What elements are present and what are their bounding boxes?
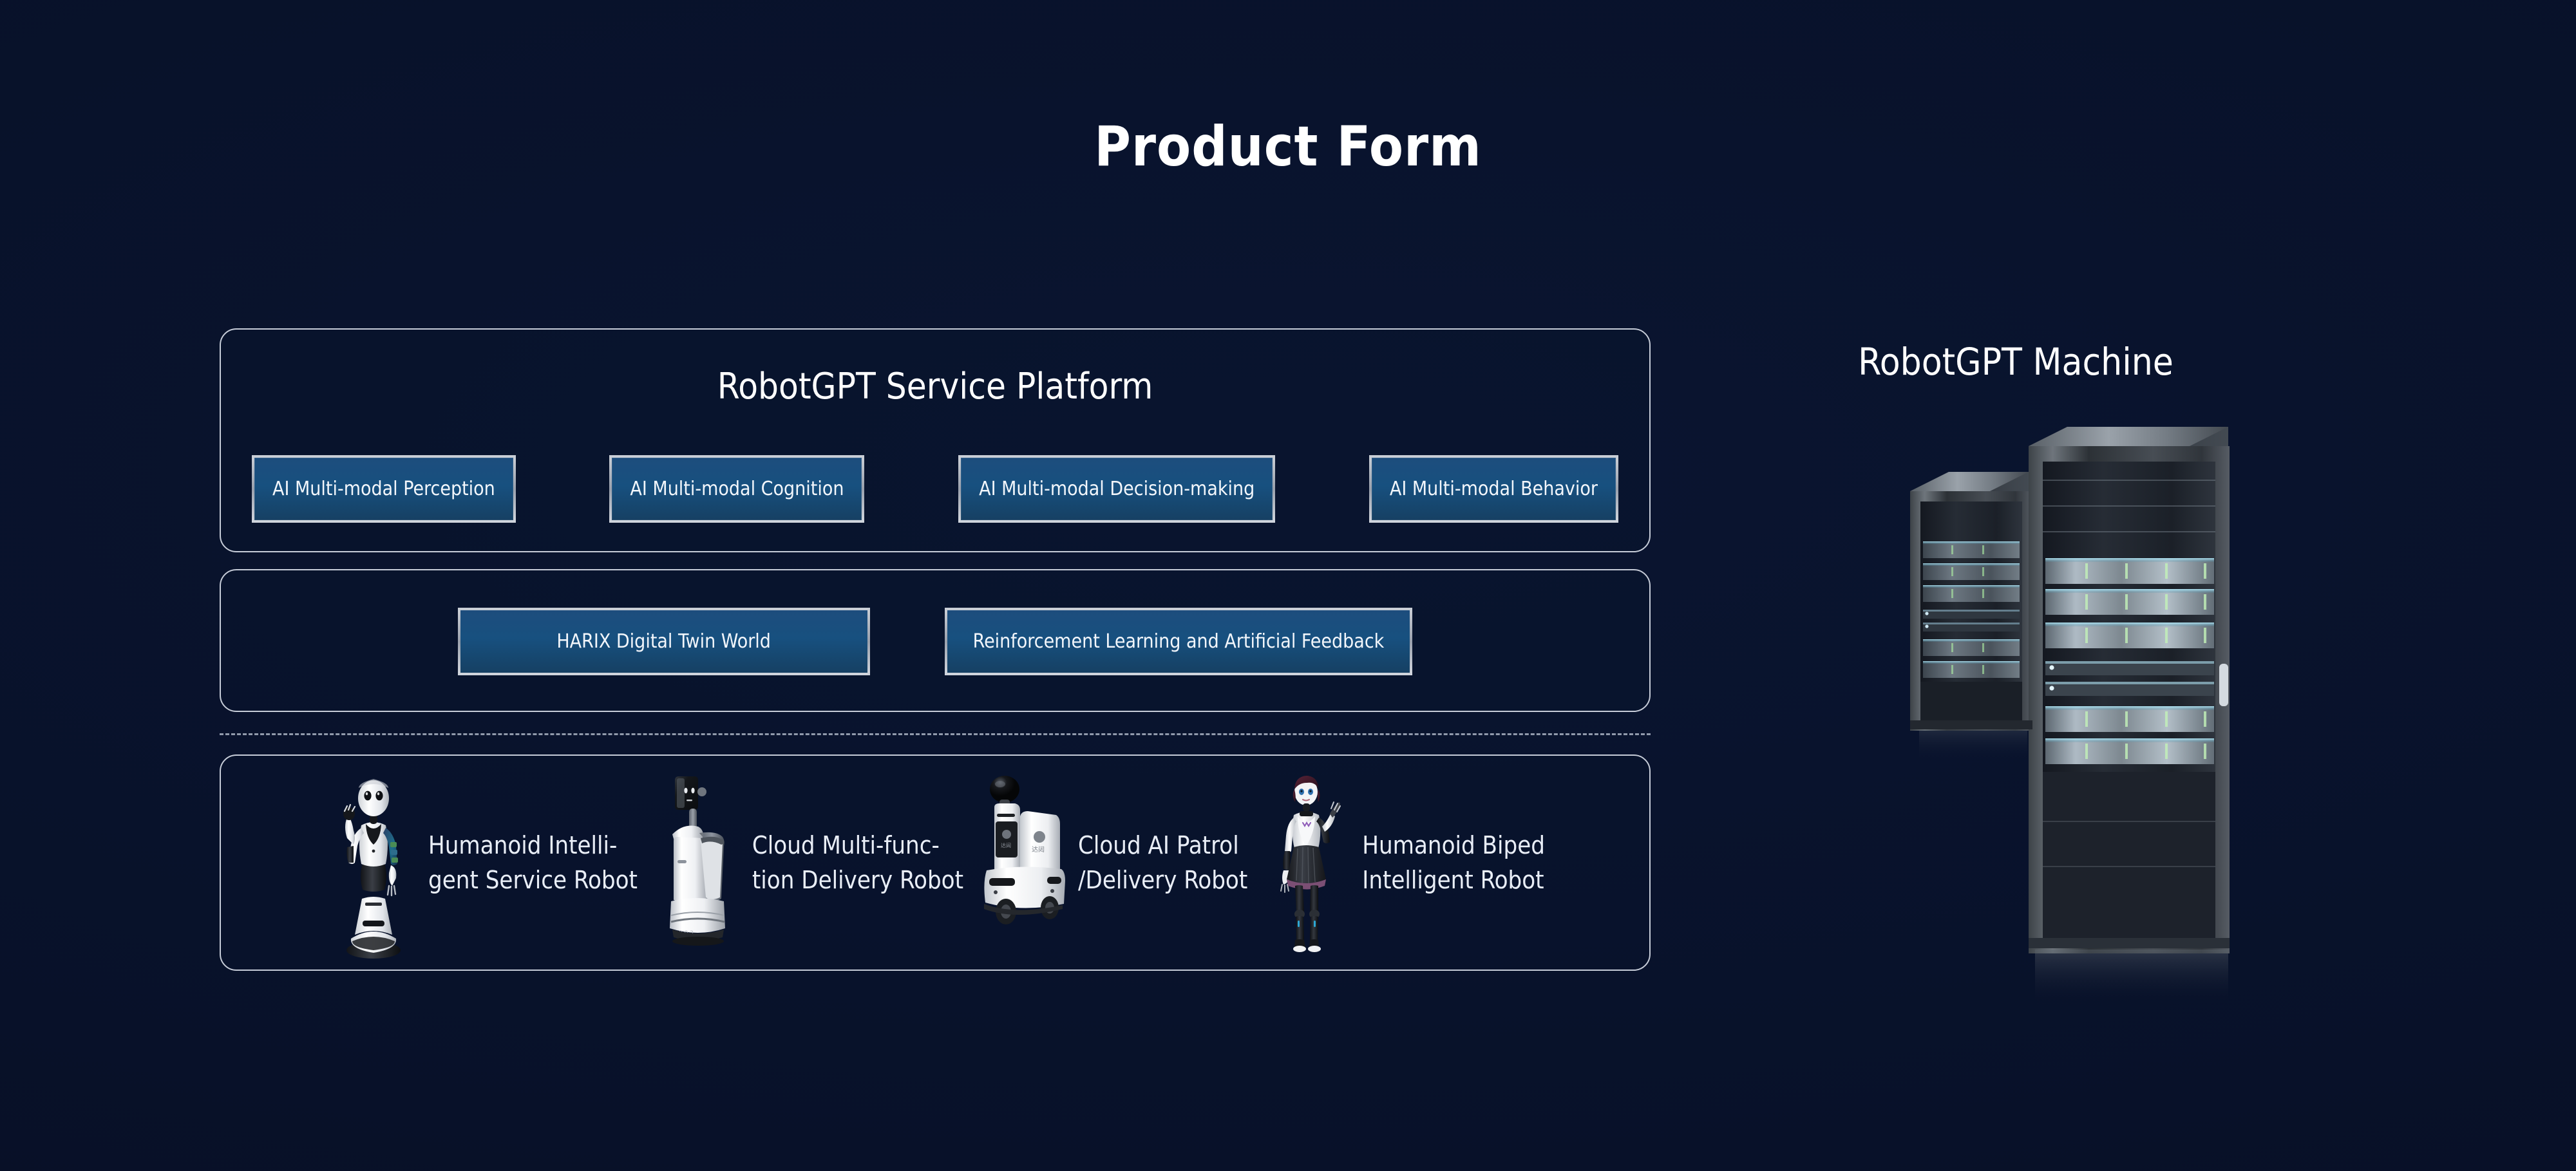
capability-chip-row: AI Multi-modal Perception AI Multi-modal…: [252, 455, 1618, 523]
robots-panel: Humanoid Intelli- gent Service Robot: [220, 754, 1651, 971]
platform-panel: RobotGPT Service Platform AI Multi-modal…: [220, 328, 1651, 552]
section-divider: [220, 733, 1651, 735]
robot-row: Humanoid Intelli- gent Service Robot: [221, 756, 1649, 970]
cloud-delivery-robot-icon: 0 0 3: [649, 766, 746, 959]
platform-panel-heading: RobotGPT Service Platform: [221, 366, 1649, 408]
capability-chip-cognition[interactable]: AI Multi-modal Cognition: [609, 455, 864, 523]
patrol-delivery-robot-icon: 达闼 达闼: [975, 766, 1072, 959]
humanoid-biped-robot-icon: [1259, 766, 1356, 959]
robot-label-humanoid-service: Humanoid Intelli- gent Service Robot: [428, 828, 638, 897]
page-title: Product Form: [0, 115, 2576, 179]
capability-chip-behavior[interactable]: AI Multi-modal Behavior: [1369, 455, 1618, 523]
slide-canvas: Product Form RobotGPT Service Platform A…: [0, 0, 2576, 1171]
harix-panel: HARIX Digital Twin World Reinforcement L…: [220, 569, 1651, 712]
machine-title: RobotGPT Machine: [1765, 340, 2267, 384]
harix-chip-reinforcement-learning[interactable]: Reinforcement Learning and Artificial Fe…: [945, 608, 1413, 675]
svg-text:达闼: 达闼: [1001, 842, 1011, 848]
robot-item-cloud-delivery[interactable]: 0 0 3 Cloud Multi-func- tion Delivery Ro…: [649, 766, 963, 959]
server-rack-icon: [1906, 422, 2241, 1027]
capability-chip-perception[interactable]: AI Multi-modal Perception: [252, 455, 516, 523]
left-column: RobotGPT Service Platform AI Multi-modal…: [220, 328, 1651, 971]
harix-chip-row: HARIX Digital Twin World Reinforcement L…: [221, 608, 1649, 675]
robot-item-humanoid-biped[interactable]: Humanoid Biped Intelligent Robot: [1259, 766, 1545, 959]
robot-label-patrol-delivery: Cloud AI Patrol /Delivery Robot: [1078, 828, 1247, 897]
robot-item-humanoid-service[interactable]: Humanoid Intelli- gent Service Robot: [325, 766, 638, 959]
svg-text:达闼: 达闼: [1032, 845, 1045, 854]
humanoid-service-robot-icon: [325, 766, 422, 959]
capability-chip-decision-making[interactable]: AI Multi-modal Decision-making: [958, 455, 1275, 523]
harix-chip-digital-twin[interactable]: HARIX Digital Twin World: [458, 608, 870, 675]
robot-label-cloud-delivery: Cloud Multi-func- tion Delivery Robot: [752, 828, 963, 897]
robot-item-patrol-delivery[interactable]: 达闼 达闼: [975, 766, 1247, 959]
robot-label-humanoid-biped: Humanoid Biped Intelligent Robot: [1362, 828, 1545, 897]
